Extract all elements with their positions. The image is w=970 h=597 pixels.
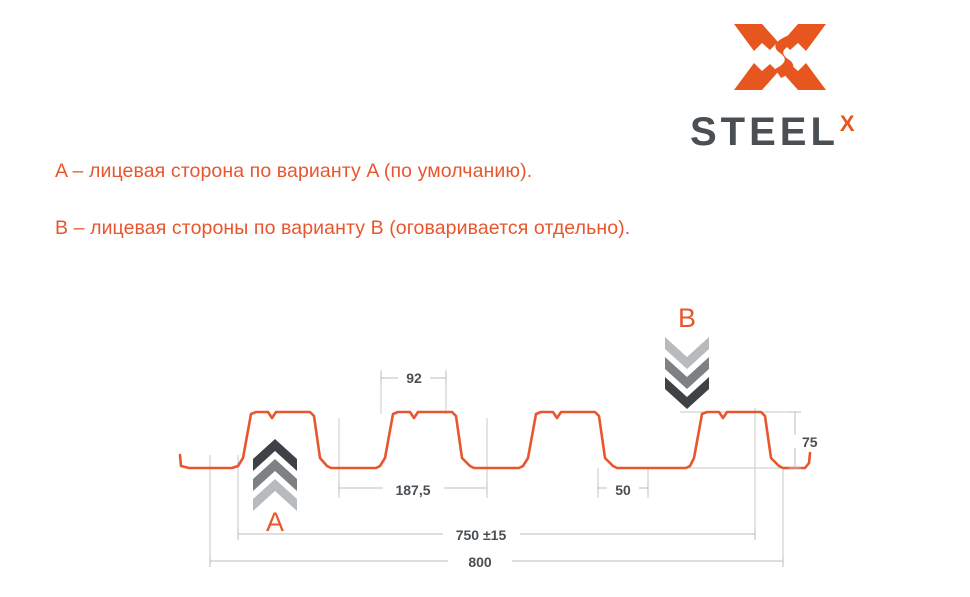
- marker-b-letter: B: [655, 305, 719, 332]
- steelx-x-logo-icon: [732, 18, 828, 96]
- wordmark-steel: STEEL: [690, 110, 839, 154]
- marker-a-letter: A: [243, 509, 307, 536]
- steelx-logo: STEELX: [690, 18, 910, 138]
- steelx-wordmark: STEELX: [690, 102, 910, 146]
- dimension-label-187-5: 187,5: [395, 482, 430, 498]
- dimension-label-800: 800: [468, 554, 492, 570]
- marker-variant-a: A: [243, 437, 307, 545]
- dimension-label-75: 75: [802, 434, 818, 450]
- chevron-up-triple-icon: [251, 437, 299, 516]
- profile-drawing-page: STEELX A – лицевая сторона по варианту A…: [0, 0, 970, 597]
- dimension-label-92: 92: [406, 370, 422, 386]
- dimension-label-50: 50: [615, 482, 631, 498]
- note-variant-a: A – лицевая сторона по варианту A (по ум…: [55, 160, 532, 183]
- wordmark-x-superscript: X: [840, 111, 855, 136]
- note-variant-b: B – лицевая стороны по варианту B (огова…: [55, 217, 630, 240]
- chevron-down-triple-icon: [663, 337, 711, 416]
- profile-cross-section-drawing: 92 187,5 50 750 ±15 800 75: [0, 290, 970, 590]
- marker-variant-b: B: [655, 305, 719, 413]
- dimension-label-750: 750 ±15: [456, 527, 507, 543]
